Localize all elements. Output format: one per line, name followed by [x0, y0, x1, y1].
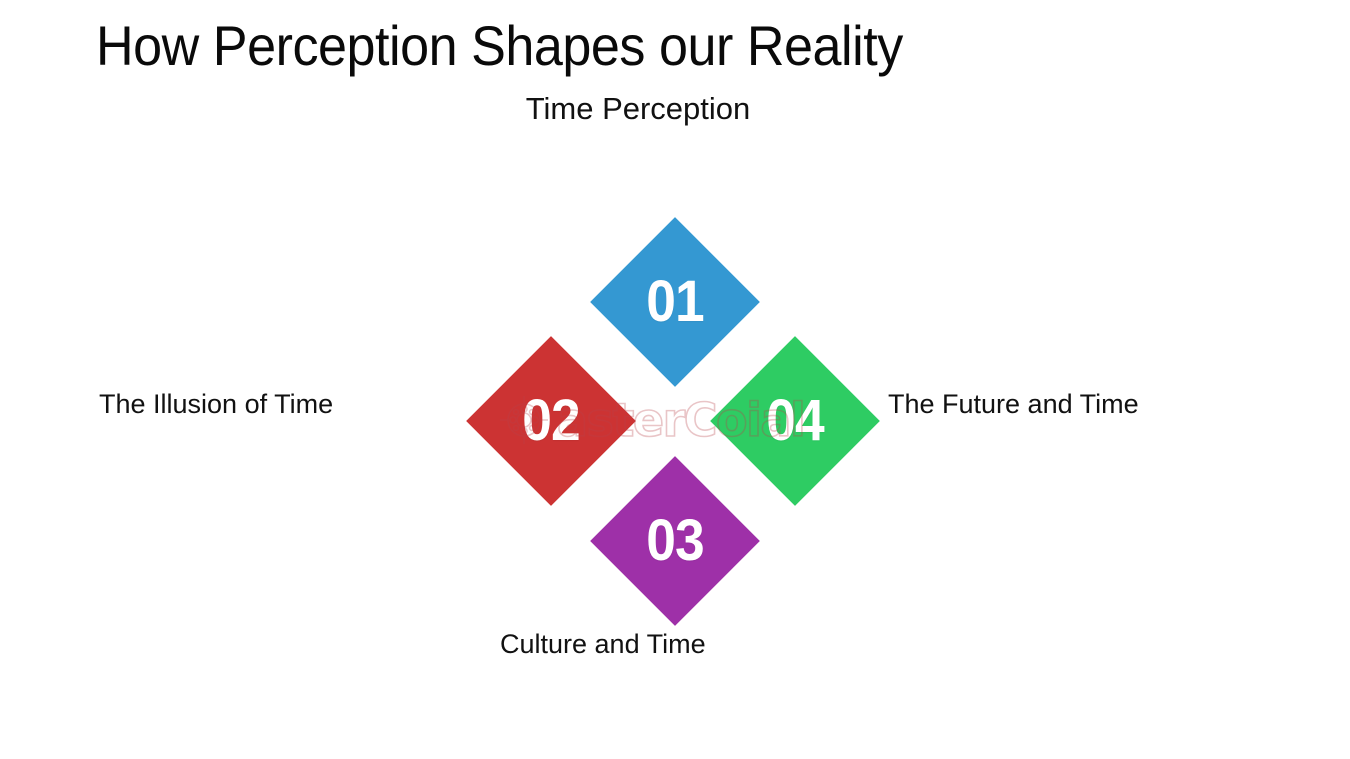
diamond-item-04[interactable]: 04	[710, 336, 880, 506]
diamond-label-left: The Illusion of Time	[99, 387, 333, 421]
diamond-item-02[interactable]: 02	[466, 336, 636, 506]
diamond-item-03[interactable]: 03	[590, 456, 760, 626]
diamond-label-right: The Future and Time	[888, 387, 1139, 421]
diamond-number-03: 03	[646, 512, 704, 570]
diamond-number-01: 01	[646, 273, 704, 331]
diamond-number-04: 04	[766, 392, 824, 450]
slide-canvas: How Perception Shapes our Reality Time P…	[0, 0, 1350, 759]
diamond-label-bottom: Culture and Time	[500, 627, 706, 661]
diamond-number-02: 02	[522, 392, 580, 450]
diamond-item-01[interactable]: 01	[590, 217, 760, 387]
